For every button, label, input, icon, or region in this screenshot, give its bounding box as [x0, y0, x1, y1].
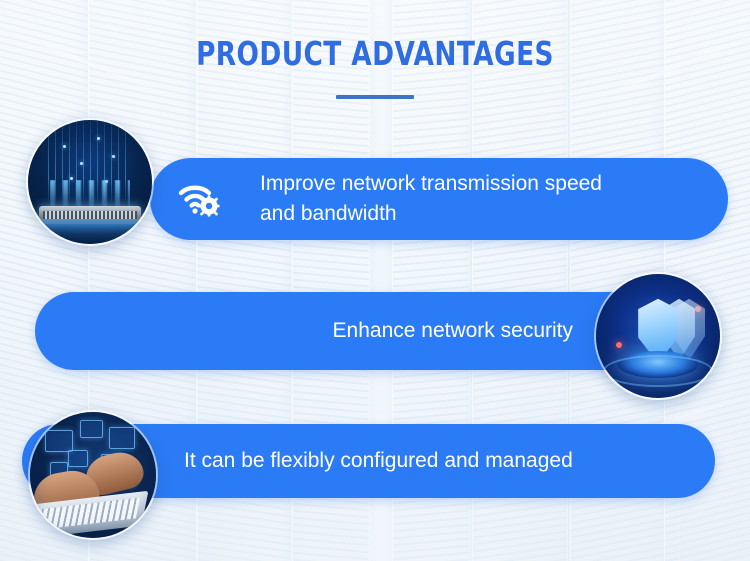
advantage-image-3	[28, 410, 158, 540]
security-shield-circle	[596, 274, 720, 398]
circle-inner-shadow	[596, 274, 720, 398]
advantage-text-2: Enhance network security	[333, 316, 587, 346]
advantage-pill-1[interactable]: Improve network transmission speed and b…	[150, 158, 728, 240]
product-advantages-poster: PRODUCT ADVANTAGES	[0, 0, 750, 561]
circle-inner-shadow	[30, 412, 156, 538]
circle-inner-shadow	[28, 120, 152, 244]
hands-on-laptop-circle	[30, 412, 156, 538]
advantage-text-1: Improve network transmission speed and b…	[208, 169, 602, 229]
advantage-image-1	[26, 118, 154, 246]
page-title: PRODUCT ADVANTAGES	[75, 34, 675, 73]
network-switch-data-circle	[28, 120, 152, 244]
title-divider	[336, 95, 414, 99]
wifi-gear-icon	[178, 180, 220, 218]
advantage-text-3: It can be flexibly configured and manage…	[170, 446, 573, 476]
advantage-image-2	[594, 272, 722, 400]
header: PRODUCT ADVANTAGES	[0, 34, 750, 99]
